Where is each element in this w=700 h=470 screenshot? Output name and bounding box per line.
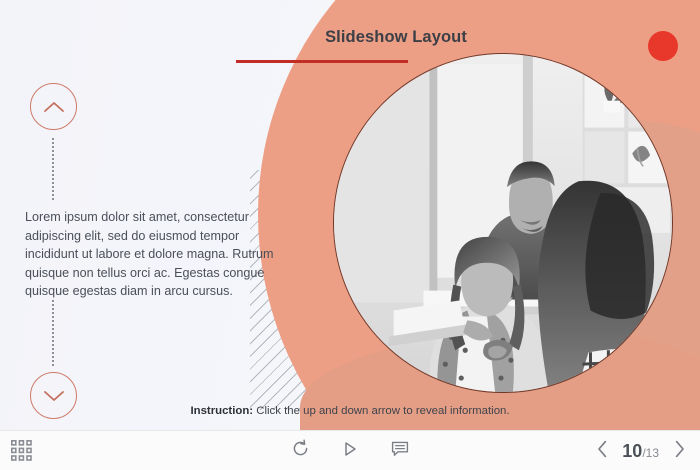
- next-slide-button[interactable]: [670, 440, 688, 462]
- title-underline: [236, 60, 408, 63]
- page-indicator: 10 /13: [622, 441, 659, 462]
- slides-menu-button[interactable]: [11, 440, 32, 466]
- chevron-left-icon: [597, 440, 608, 463]
- replay-icon: [291, 439, 310, 463]
- circular-photo-frame: [333, 53, 673, 393]
- slideshow-slide: Slideshow Layout Lorem ipsum dolor sit a…: [0, 0, 700, 470]
- reveal-up-button[interactable]: [30, 83, 77, 130]
- connector-line-top: [52, 138, 54, 200]
- page-title: Slideshow Layout: [236, 28, 556, 47]
- comment-icon: [391, 440, 409, 463]
- instruction-line: Instruction: Click the up and down arrow…: [0, 405, 700, 417]
- play-icon: [341, 440, 359, 463]
- meeting-photo: [334, 54, 672, 392]
- slide-stage: Slideshow Layout Lorem ipsum dolor sit a…: [0, 0, 700, 430]
- grid-menu-icon: [11, 440, 32, 466]
- comment-button[interactable]: [388, 439, 412, 463]
- chevron-down-icon: [43, 389, 65, 403]
- previous-slide-button[interactable]: [593, 440, 611, 462]
- player-toolbar: 10 /13: [0, 430, 700, 470]
- chevron-up-icon: [43, 100, 65, 114]
- chevron-right-icon: [674, 440, 685, 463]
- total-page-count: /13: [642, 446, 659, 460]
- connector-line-bottom: [52, 300, 54, 366]
- play-button[interactable]: [338, 439, 362, 463]
- current-page-number: 10: [622, 441, 642, 462]
- replay-button[interactable]: [288, 439, 312, 463]
- instruction-label: Instruction:: [190, 405, 253, 417]
- body-paragraph: Lorem ipsum dolor sit amet, consectetur …: [25, 208, 287, 301]
- pagination-controls: 10 /13: [593, 431, 688, 470]
- instruction-text: Click the up and down arrow to reveal in…: [253, 405, 509, 417]
